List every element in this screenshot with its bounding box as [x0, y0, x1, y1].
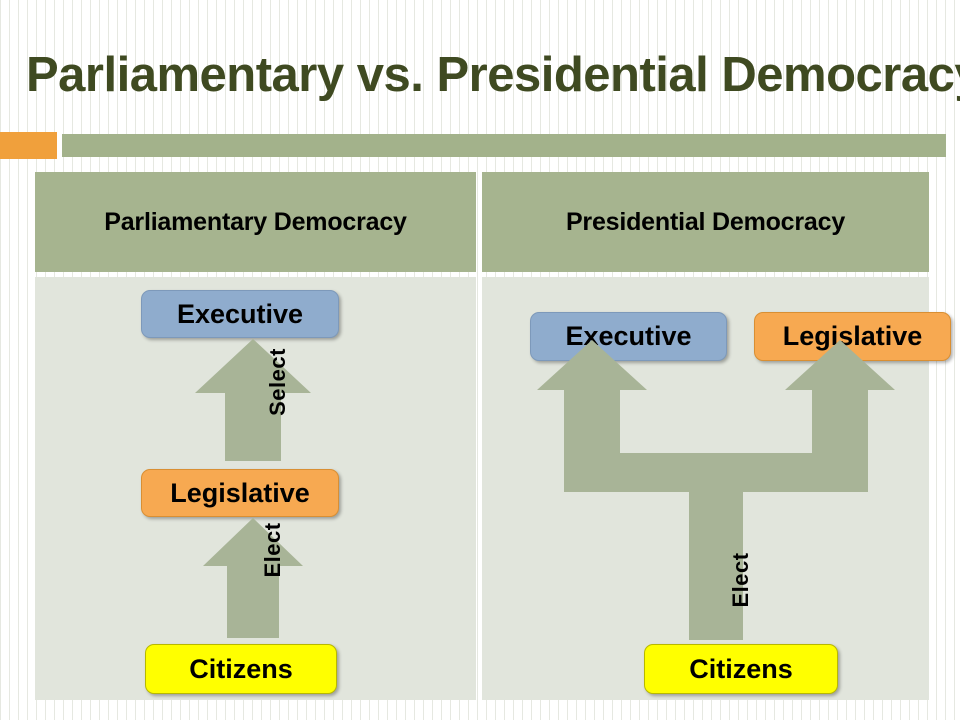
arrow-parliamentary-elect	[203, 518, 303, 638]
node-parliamentary-citizens[interactable]: Citizens	[145, 644, 337, 694]
node-presidential-citizens[interactable]: Citizens	[644, 644, 838, 694]
arrow-label-select: Select	[265, 342, 287, 422]
column-header-parliamentary: Parliamentary Democracy	[35, 172, 476, 272]
slide-canvas: Parliamentary vs. Presidential Democracy…	[0, 0, 960, 720]
node-parliamentary-legislative[interactable]: Legislative	[141, 469, 339, 517]
column-body-parliamentary: Executive Select Legislative Elect Citiz…	[35, 277, 476, 700]
arrow-parliamentary-select	[195, 339, 311, 461]
title-rule-accent	[0, 132, 57, 159]
title-rule-bar	[62, 134, 946, 157]
arrow-label-elect-presidential: Elect	[728, 540, 750, 620]
arrow-presidential-elect-fork	[530, 340, 902, 640]
column-parliamentary: Parliamentary Democracy Executive Select…	[35, 172, 476, 700]
comparison-panel: Parliamentary Democracy Executive Select…	[35, 172, 929, 700]
node-parliamentary-executive[interactable]: Executive	[141, 290, 339, 338]
column-body-presidential: Executive Legislative Elect Citizens	[482, 277, 929, 700]
column-header-presidential: Presidential Democracy	[482, 172, 929, 272]
page-title: Parliamentary vs. Presidential Democracy	[26, 44, 946, 106]
column-presidential: Presidential Democracy Executive Legisla…	[482, 172, 929, 700]
arrow-label-elect-parliamentary: Elect	[260, 510, 282, 590]
